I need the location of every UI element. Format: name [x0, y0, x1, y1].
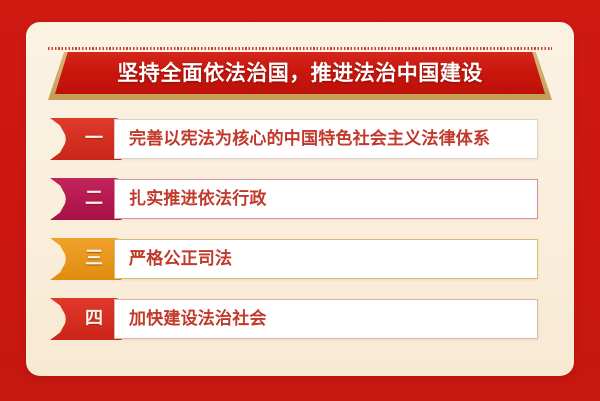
list-item[interactable]: 三 严格公正司法 — [26, 238, 574, 280]
item-number-marker: 二 — [50, 178, 122, 220]
dotted-divider — [48, 47, 552, 50]
list-item[interactable]: 四 加快建设法治社会 — [26, 298, 574, 340]
item-number-label: 四 — [50, 298, 122, 340]
item-number-label: 二 — [50, 178, 122, 220]
item-text-label: 严格公正司法 — [129, 240, 232, 278]
page-title: 坚持全面依法治国，推进法治中国建设 — [48, 52, 552, 94]
item-text-box: 严格公正司法 — [114, 239, 538, 279]
item-list: 一 完善以宪法为核心的中国特色社会主义法律体系 二 扎实推进依法行政 三 — [26, 118, 574, 358]
poster-root: 坚持全面依法治国，推进法治中国建设 一 完善以宪法为核心的中国特色社会主义法律体… — [0, 0, 600, 401]
item-number-marker: 四 — [50, 298, 122, 340]
item-number-label: 三 — [50, 238, 122, 280]
item-number-label: 一 — [50, 118, 122, 160]
item-text-label: 加快建设法治社会 — [129, 300, 267, 338]
item-text-box: 加快建设法治社会 — [114, 299, 538, 339]
list-item[interactable]: 一 完善以宪法为核心的中国特色社会主义法律体系 — [26, 118, 574, 160]
item-text-label: 扎实推进依法行政 — [129, 180, 267, 218]
content-panel: 坚持全面依法治国，推进法治中国建设 一 完善以宪法为核心的中国特色社会主义法律体… — [26, 22, 574, 376]
list-item[interactable]: 二 扎实推进依法行政 — [26, 178, 574, 220]
item-number-marker: 三 — [50, 238, 122, 280]
title-banner: 坚持全面依法治国，推进法治中国建设 — [48, 52, 552, 100]
item-text-label: 完善以宪法为核心的中国特色社会主义法律体系 — [129, 120, 490, 158]
item-number-marker: 一 — [50, 118, 122, 160]
item-text-box: 完善以宪法为核心的中国特色社会主义法律体系 — [114, 119, 538, 159]
item-text-box: 扎实推进依法行政 — [114, 179, 538, 219]
